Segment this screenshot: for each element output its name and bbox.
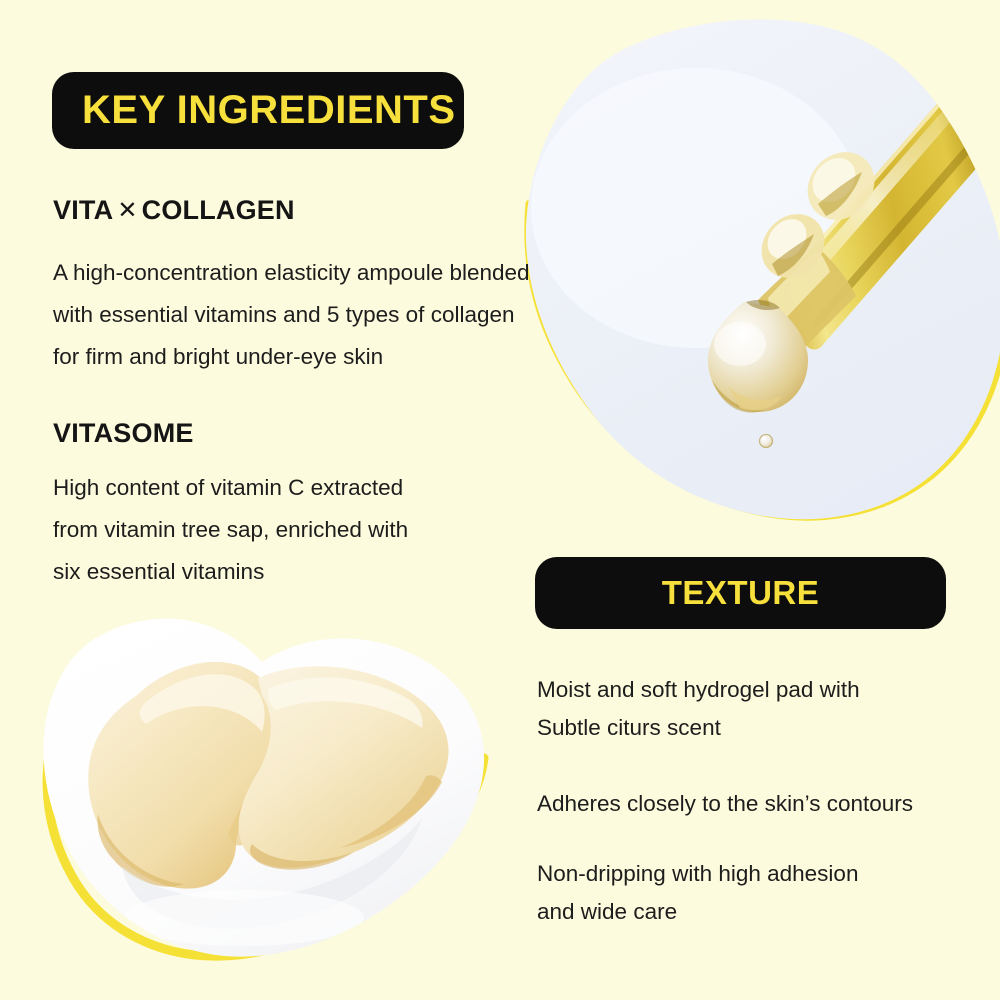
ingredient-title-tail: COLLAGEN (142, 195, 295, 225)
serum-droplet (708, 300, 808, 413)
dish-sheen (124, 890, 364, 946)
ingredient-title-lead: VITA (53, 195, 113, 225)
texture-badge: TEXTURE (535, 557, 946, 629)
ingredient-title-vitasome: VITASOME (53, 418, 194, 449)
ingredient-description-vita-x-collagen: A high-concentration elasticity ampoule … (53, 252, 613, 378)
texture-badge-label: TEXTURE (662, 574, 820, 612)
marketing-page: KEY INGREDIENTS VITA✕COLLAGEN A high-con… (0, 0, 1000, 1000)
dish-shape (43, 619, 484, 957)
hydrogel-eye-patch-photo (14, 600, 524, 992)
multiply-icon: ✕ (113, 197, 141, 224)
texture-point: Moist and soft hydrogel pad with Subtle … (537, 671, 860, 747)
ingredient-title-vita-x-collagen: VITA✕COLLAGEN (53, 195, 295, 226)
ingredient-description-vitasome: High content of vitamin C extracted from… (53, 467, 493, 593)
key-ingredients-badge: KEY INGREDIENTS (52, 72, 464, 149)
dish-outline-stroke (47, 716, 484, 956)
eye-patch-right (239, 666, 449, 870)
oil-bead-upper (794, 139, 888, 234)
texture-point: Non-dripping with high adhesion and wide… (537, 855, 858, 931)
pipette-nozzle (758, 246, 856, 356)
pipette-tube (761, 57, 1000, 353)
oil-bead-lower (749, 201, 838, 290)
micro-bubble (760, 435, 773, 448)
texture-point: Adheres closely to the skin’s contours (537, 785, 913, 823)
patch-shadow (122, 818, 422, 929)
eye-patch-left (88, 662, 278, 889)
key-ingredients-badge-label: KEY INGREDIENTS (82, 88, 456, 133)
nozzle-highlight (768, 250, 830, 326)
